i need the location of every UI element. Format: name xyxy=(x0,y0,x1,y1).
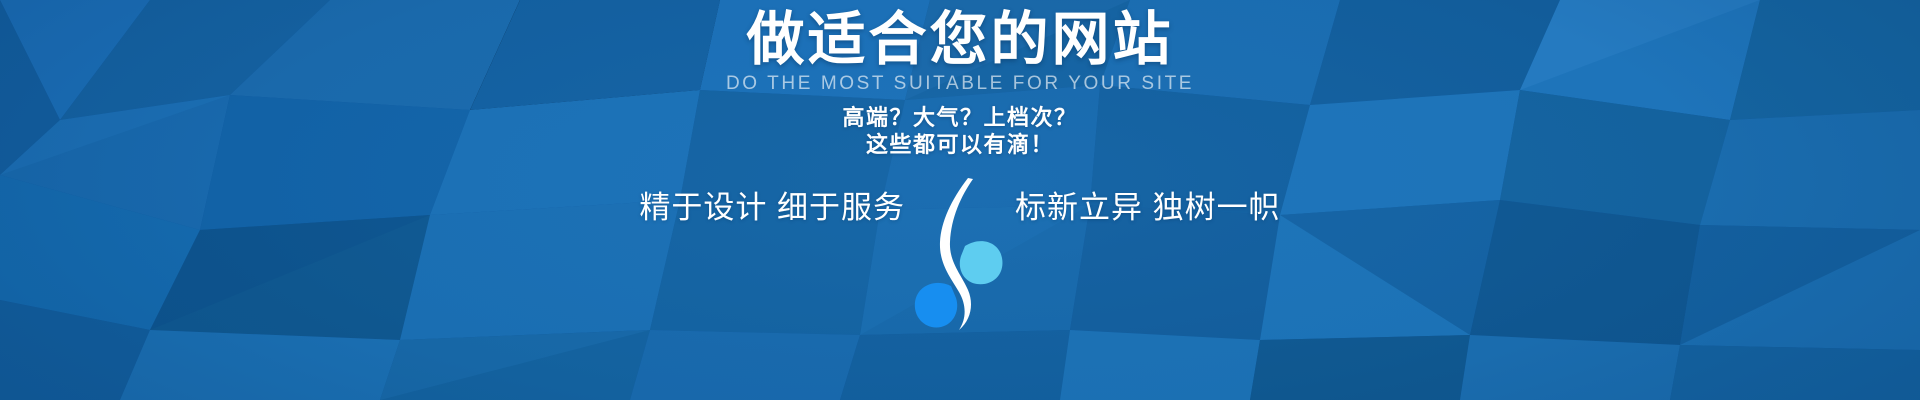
leaf-swirl-logo-icon xyxy=(905,174,1015,334)
slogan-left: 精于设计 细于服务 xyxy=(605,188,905,228)
hero-banner: 做适合您的网站 DO THE MOST SUITABLE FOR YOUR SI… xyxy=(0,0,1920,400)
english-subtitle: DO THE MOST SUITABLE FOR YOUR SITE xyxy=(0,73,1920,95)
logo-slot xyxy=(905,178,1015,238)
main-title: 做适合您的网站 xyxy=(0,8,1920,72)
banner-content: 做适合您的网站 DO THE MOST SUITABLE FOR YOUR SI… xyxy=(0,0,1920,400)
slogan-row: 精于设计 细于服务 标新立异 独树一帜 xyxy=(0,178,1920,238)
slogan-right: 标新立异 独树一帜 xyxy=(1015,188,1315,228)
chinese-subtitle-line-1: 高端？大气？上档次？ xyxy=(0,104,1920,131)
headline-block: 做适合您的网站 DO THE MOST SUITABLE FOR YOUR SI… xyxy=(0,8,1920,95)
chinese-subtitle-line-2: 这些都可以有滴！ xyxy=(0,131,1920,158)
chinese-subtitle-block: 高端？大气？上档次？ 这些都可以有滴！ xyxy=(0,104,1920,158)
